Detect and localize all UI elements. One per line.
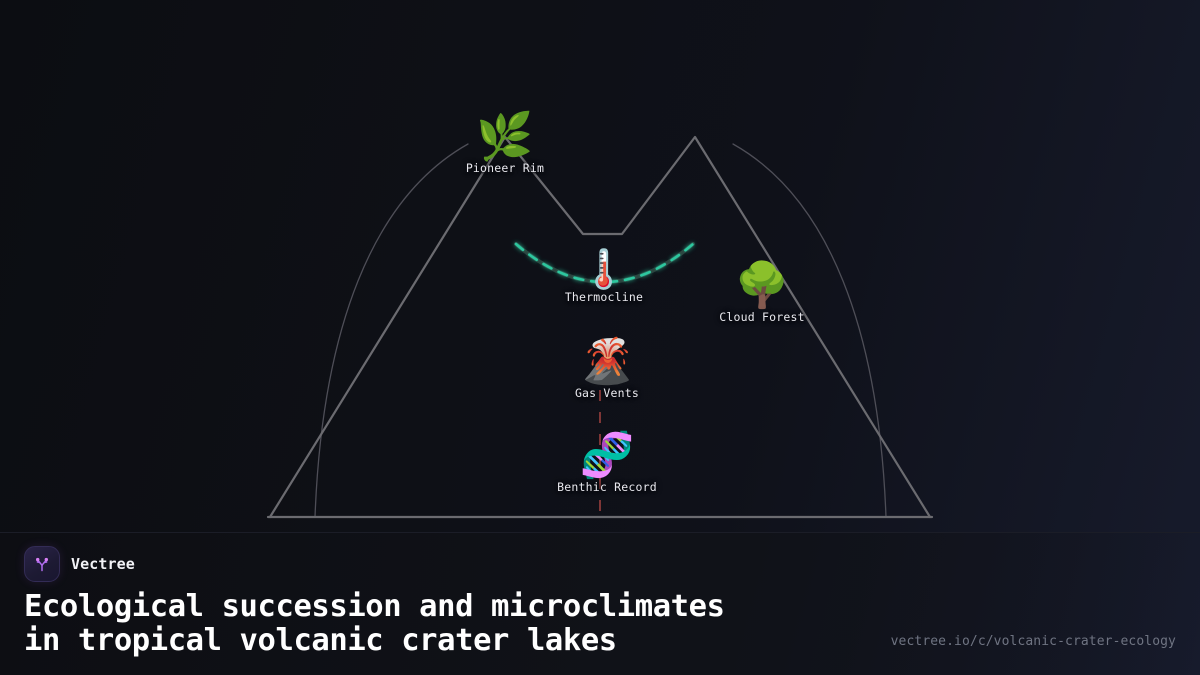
footer-bar: Vectree Ecological succession and microc…: [0, 532, 1200, 675]
dna-icon: 🧬: [580, 434, 635, 478]
volcano-icon: 🌋: [580, 340, 635, 384]
node-label-cloud-forest: Cloud Forest: [719, 310, 804, 324]
brand-name: Vectree: [71, 555, 135, 573]
node-gas-vents[interactable]: 🌋 Gas Vents: [575, 340, 639, 400]
deciduous-tree-icon: 🌳: [735, 264, 790, 308]
node-thermocline[interactable]: 🌡️ Thermocline: [565, 250, 643, 304]
thermometer-icon: 🌡️: [580, 250, 627, 288]
node-pioneer-rim[interactable]: 🌿 Pioneer Rim: [466, 113, 544, 175]
page-title-line-2: in tropical volcanic crater lakes: [24, 624, 884, 658]
node-label-gas-vents: Gas Vents: [575, 386, 639, 400]
screenshot-root: 🌿 Pioneer Rim 🌡️ Thermocline 🌳 Cloud For…: [0, 0, 1200, 675]
herb-leaf-icon: 🌿: [476, 113, 533, 159]
page-title-line-1: Ecological succession and microclimates: [24, 590, 884, 624]
node-cloud-forest[interactable]: 🌳 Cloud Forest: [719, 264, 804, 324]
brand[interactable]: Vectree: [24, 547, 1176, 581]
source-url[interactable]: vectree.io/c/volcanic-crater-ecology: [891, 634, 1176, 649]
node-label-benthic-record: Benthic Record: [557, 480, 657, 494]
terrain-outer-slope-left: [315, 144, 468, 517]
node-label-thermocline: Thermocline: [565, 290, 643, 304]
node-benthic-record[interactable]: 🧬 Benthic Record: [557, 434, 657, 494]
node-label-pioneer-rim: Pioneer Rim: [466, 161, 544, 175]
page-title: Ecological succession and microclimates …: [24, 590, 884, 658]
vectree-branch-icon: [24, 546, 60, 582]
terrain-outer-slope-right: [733, 144, 886, 517]
diagram-canvas[interactable]: 🌿 Pioneer Rim 🌡️ Thermocline 🌳 Cloud For…: [0, 0, 1200, 530]
